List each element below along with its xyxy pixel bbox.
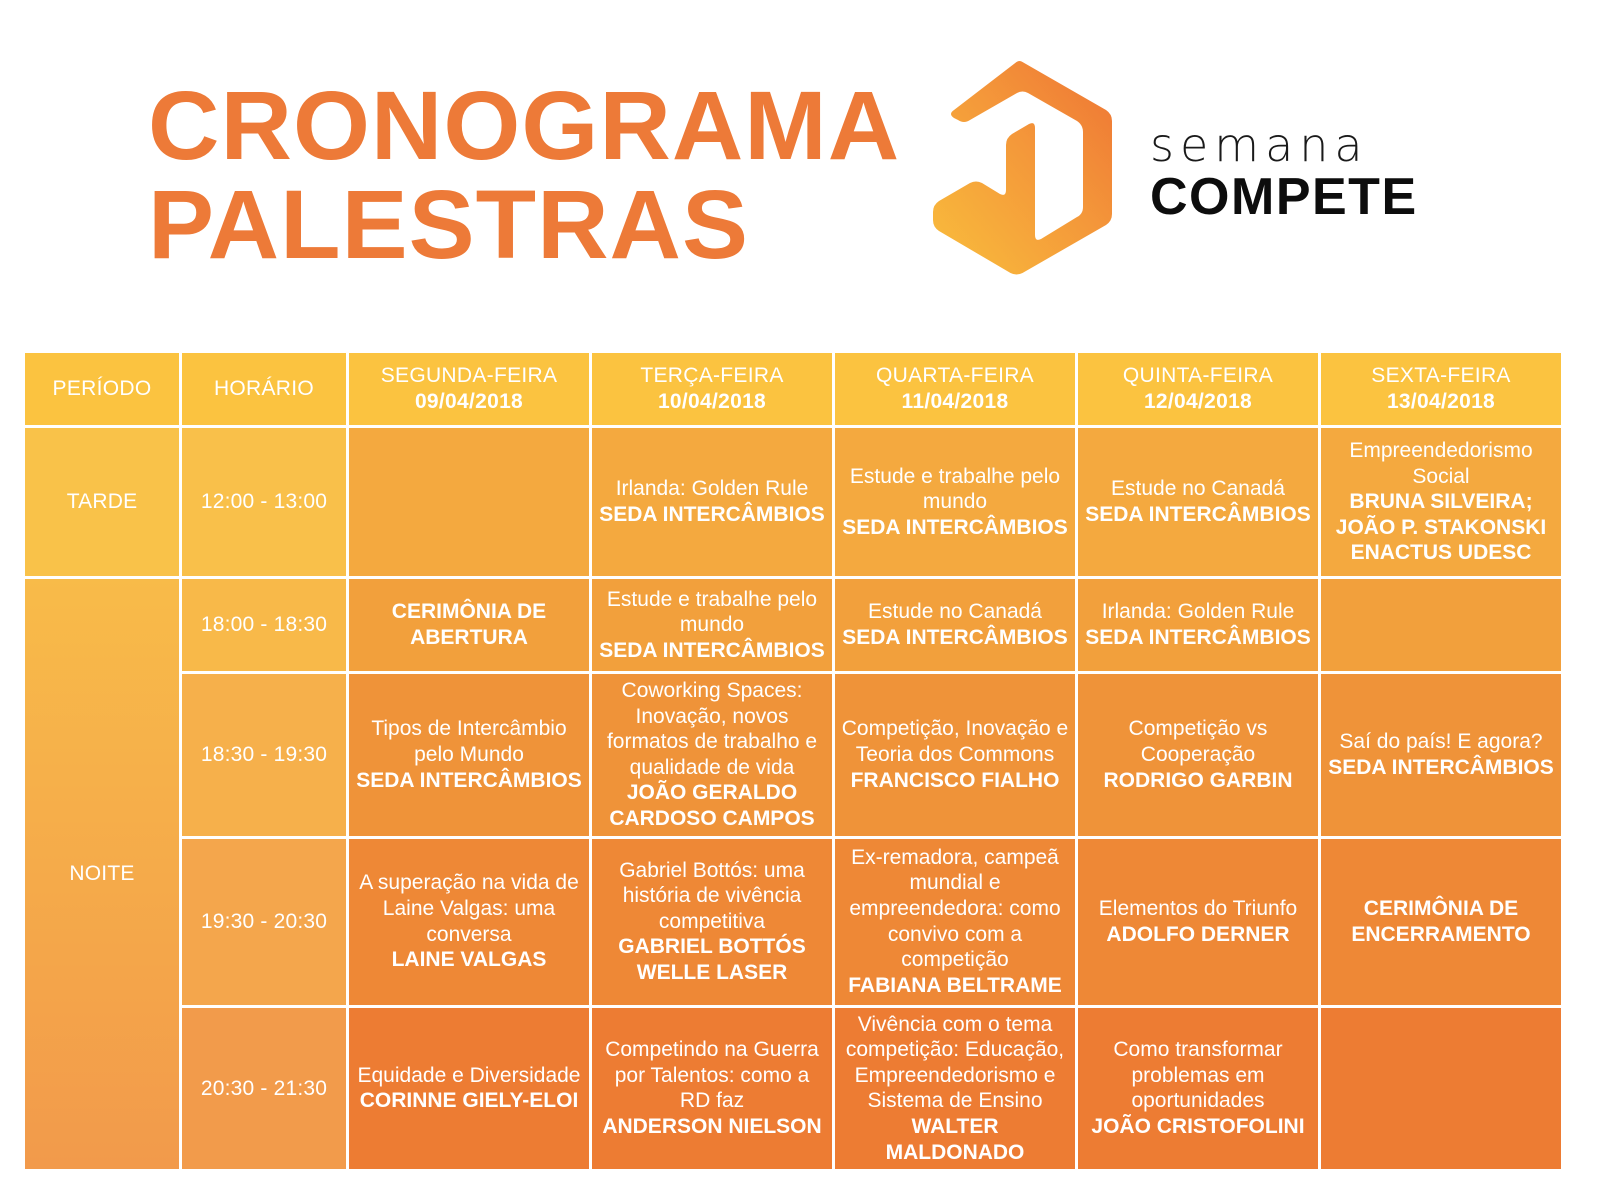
table-header-row: PERÍODO HORÁRIO SEGUNDA-FEIRA 09/04/2018… [25, 353, 1561, 425]
session-cell-terca: Coworking Spaces: Inovação, novos format… [592, 674, 832, 836]
page-header: CRONOGRAMA PALESTRAS semana COMPETE [0, 0, 1600, 340]
time-cell: 18:30 - 19:30 [182, 674, 346, 836]
session-speaker: LAINE VALGAS [355, 947, 583, 973]
table-row: 20:30 - 21:30 Equidade e Diversidade COR… [25, 1008, 1561, 1170]
session-speaker: CERIMÔNIA DE ABERTURA [355, 599, 583, 650]
page-title-line-1: CRONOGRAMA [148, 78, 923, 173]
table-row: NOITE 18:00 - 18:30 CERIMÔNIA DE ABERTUR… [25, 579, 1561, 671]
column-header-sexta-label: SEXTA-FEIRA [1371, 364, 1510, 387]
column-header-segunda-date: 09/04/2018 [355, 389, 583, 415]
session-title: Tipos de Intercâmbio pelo Mundo [355, 716, 583, 767]
session-cell-quinta: Competição vs Cooperação RODRIGO GARBIN [1078, 674, 1318, 836]
column-header-quinta-label: QUINTA-FEIRA [1123, 364, 1273, 387]
session-title: Coworking Spaces: Inovação, novos format… [598, 678, 826, 780]
session-cell-quarta: Competição, Inovação e Teoria dos Common… [835, 674, 1075, 836]
column-header-segunda: SEGUNDA-FEIRA 09/04/2018 [349, 353, 589, 425]
column-header-horario: HORÁRIO [182, 353, 346, 425]
session-title: Irlanda: Golden Rule [598, 476, 826, 502]
session-speaker: SEDA INTERCÂMBIOS [598, 502, 826, 528]
column-header-quarta-date: 11/04/2018 [841, 389, 1069, 415]
session-speaker: GABRIEL BOTTÓS WELLE LASER [598, 934, 826, 985]
session-cell-segunda: CERIMÔNIA DE ABERTURA [349, 579, 589, 671]
session-speaker: JOÃO CRISTOFOLINI [1084, 1114, 1312, 1140]
session-title: Ex-remadora, campeã mundial e empreended… [841, 845, 1069, 973]
session-cell-quinta: Estude no Canadá SEDA INTERCÂMBIOS [1078, 428, 1318, 576]
session-speaker: JOÃO GERALDO CARDOSO CAMPOS [598, 780, 826, 831]
session-speaker: SEDA INTERCÂMBIOS [355, 768, 583, 794]
table-row: TARDE 12:00 - 13:00 Irlanda: Golden Rule… [25, 428, 1561, 576]
session-cell-sexta: Saí do país! E agora? SEDA INTERCÂMBIOS [1321, 674, 1561, 836]
session-title: Competindo na Guerra por Talentos: como … [598, 1037, 826, 1114]
brand-wordmark-compete: COMPETE [1150, 170, 1450, 225]
column-header-terca-date: 10/04/2018 [598, 389, 826, 415]
session-title: Como transformar problemas em oportunida… [1084, 1037, 1312, 1114]
time-cell-label: 20:30 - 21:30 [201, 1077, 327, 1100]
session-speaker: SEDA INTERCÂMBIOS [1084, 502, 1312, 528]
session-title: Estude no Canadá [1084, 476, 1312, 502]
session-cell-sexta: Empreendedorismo Social BRUNA SILVEIRA; … [1321, 428, 1561, 576]
time-cell-label: 19:30 - 20:30 [201, 910, 327, 933]
session-speaker: FRANCISCO FIALHO [841, 768, 1069, 794]
session-title: Competição vs Cooperação [1084, 716, 1312, 767]
session-cell-terca: Estude e trabalhe pelo mundo SEDA INTERC… [592, 579, 832, 671]
schedule-table: PERÍODO HORÁRIO SEGUNDA-FEIRA 09/04/2018… [22, 350, 1564, 1172]
period-cell-noite-label: NOITE [69, 862, 134, 885]
session-speaker: SEDA INTERCÂMBIOS [841, 515, 1069, 541]
session-cell-segunda [349, 428, 589, 576]
session-title: Estude e trabalhe pelo mundo [841, 464, 1069, 515]
time-cell: 20:30 - 21:30 [182, 1008, 346, 1170]
column-header-terca: TERÇA-FEIRA 10/04/2018 [592, 353, 832, 425]
session-cell-segunda: A superação na vida de Laine Valgas: uma… [349, 839, 589, 1005]
session-speaker: RODRIGO GARBIN [1084, 768, 1312, 794]
session-title: A superação na vida de Laine Valgas: uma… [355, 870, 583, 947]
page-title-line-2: PALESTRAS [148, 177, 923, 272]
session-cell-quinta: Como transformar problemas em oportunida… [1078, 1008, 1318, 1170]
session-title: Equidade e Diversidade [355, 1063, 583, 1089]
time-cell: 18:00 - 18:30 [182, 579, 346, 671]
column-header-periodo: PERÍODO [25, 353, 179, 425]
column-header-horario-label: HORÁRIO [214, 377, 314, 400]
session-speaker: CERIMÔNIA DE ENCERRAMENTO [1327, 896, 1555, 947]
column-header-sexta-date: 13/04/2018 [1327, 389, 1555, 415]
session-cell-quinta: Elementos do Triunfo ADOLFO DERNER [1078, 839, 1318, 1005]
time-cell-label: 12:00 - 13:00 [201, 490, 327, 513]
session-speaker: SEDA INTERCÂMBIOS [841, 625, 1069, 651]
session-title: Elementos do Triunfo [1084, 896, 1312, 922]
session-speaker: SEDA INTERCÂMBIOS [1084, 625, 1312, 651]
session-title: Vivência com o tema competição: Educação… [841, 1012, 1069, 1114]
session-speaker: ADOLFO DERNER [1084, 922, 1312, 948]
semana-compete-hexagon-icon [930, 60, 1115, 275]
period-cell-noite: NOITE [25, 579, 179, 1169]
time-cell: 19:30 - 20:30 [182, 839, 346, 1005]
session-speaker: CORINNE GIELY-ELOI [355, 1088, 583, 1114]
column-header-segunda-label: SEGUNDA-FEIRA [381, 364, 558, 387]
time-cell-label: 18:00 - 18:30 [201, 613, 327, 636]
brand-logo: semana COMPETE [930, 60, 1450, 290]
session-cell-terca: Gabriel Bottós: uma história de vivência… [592, 839, 832, 1005]
table-row: 19:30 - 20:30 A superação na vida de Lai… [25, 839, 1561, 1005]
session-cell-terca: Irlanda: Golden Rule SEDA INTERCÂMBIOS [592, 428, 832, 576]
time-cell-label: 18:30 - 19:30 [201, 743, 327, 766]
table-row: 18:30 - 19:30 Tipos de Intercâmbio pelo … [25, 674, 1561, 836]
session-speaker: FABIANA BELTRAME [841, 973, 1069, 999]
session-title: Estude e trabalhe pelo mundo [598, 587, 826, 638]
page-title: CRONOGRAMA PALESTRAS [148, 78, 908, 272]
column-header-quarta: QUARTA-FEIRA 11/04/2018 [835, 353, 1075, 425]
column-header-quinta-date: 12/04/2018 [1084, 389, 1312, 415]
session-cell-quarta: Ex-remadora, campeã mundial e empreended… [835, 839, 1075, 1005]
session-speaker: WALTER MALDONADO [841, 1114, 1069, 1165]
schedule-table-container: PERÍODO HORÁRIO SEGUNDA-FEIRA 09/04/2018… [22, 350, 1548, 1172]
session-cell-quinta: Irlanda: Golden Rule SEDA INTERCÂMBIOS [1078, 579, 1318, 671]
session-title: Competição, Inovação e Teoria dos Common… [841, 716, 1069, 767]
session-cell-sexta [1321, 579, 1561, 671]
brand-wordmark-semana: semana [1150, 122, 1450, 168]
session-cell-sexta: CERIMÔNIA DE ENCERRAMENTO [1321, 839, 1561, 1005]
session-cell-segunda: Equidade e Diversidade CORINNE GIELY-ELO… [349, 1008, 589, 1170]
column-header-sexta: SEXTA-FEIRA 13/04/2018 [1321, 353, 1561, 425]
session-cell-segunda: Tipos de Intercâmbio pelo Mundo SEDA INT… [349, 674, 589, 836]
session-cell-quarta: Estude no Canadá SEDA INTERCÂMBIOS [835, 579, 1075, 671]
column-header-quinta: QUINTA-FEIRA 12/04/2018 [1078, 353, 1318, 425]
time-cell: 12:00 - 13:00 [182, 428, 346, 576]
period-cell-tarde: TARDE [25, 428, 179, 576]
column-header-quarta-label: QUARTA-FEIRA [876, 364, 1034, 387]
session-speaker: ANDERSON NIELSON [598, 1114, 826, 1140]
session-title: Estude no Canadá [841, 599, 1069, 625]
session-speaker: SEDA INTERCÂMBIOS [1327, 755, 1555, 781]
session-title: Saí do país! E agora? [1327, 729, 1555, 755]
session-cell-quarta: Estude e trabalhe pelo mundo SEDA INTERC… [835, 428, 1075, 576]
brand-wordmark: semana COMPETE [1150, 122, 1450, 225]
column-header-terca-label: TERÇA-FEIRA [640, 364, 783, 387]
session-title: Gabriel Bottós: uma história de vivência… [598, 858, 826, 935]
column-header-periodo-label: PERÍODO [53, 377, 152, 400]
period-cell-tarde-label: TARDE [67, 490, 138, 513]
session-title: Irlanda: Golden Rule [1084, 599, 1312, 625]
session-cell-terca: Competindo na Guerra por Talentos: como … [592, 1008, 832, 1170]
session-speaker: BRUNA SILVEIRA; JOÃO P. STAKONSKI ENACTU… [1327, 489, 1555, 566]
session-title: Empreendedorismo Social [1327, 438, 1555, 489]
session-cell-sexta [1321, 1008, 1561, 1170]
session-cell-quarta: Vivência com o tema competição: Educação… [835, 1008, 1075, 1170]
session-speaker: SEDA INTERCÂMBIOS [598, 638, 826, 664]
